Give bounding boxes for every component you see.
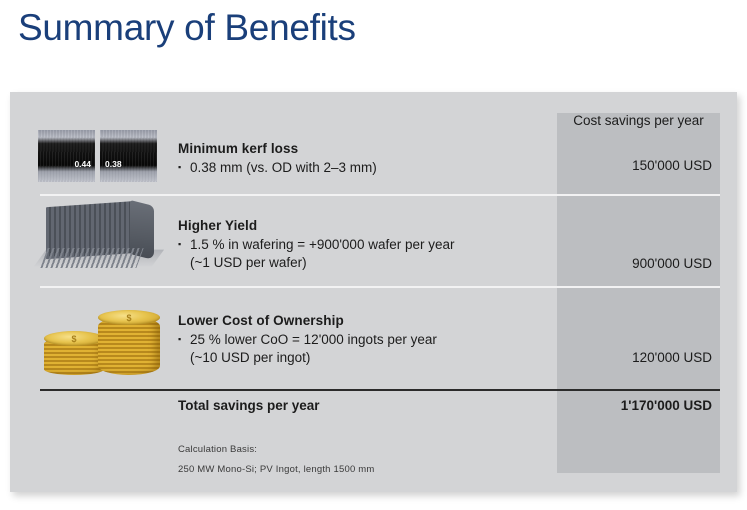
kerf-image-od: 0.44 — [38, 130, 95, 182]
square-bullet-icon: ▪ — [178, 236, 181, 254]
row-text-higher-yield: Higher Yield ▪ 1.5 % in wafering = +900'… — [178, 217, 553, 271]
kerf-image-dw: 0.38 — [100, 130, 157, 182]
gold-coin-stacks-image: $ $ — [38, 307, 164, 377]
square-bullet-icon: ▪ — [178, 159, 181, 177]
row-cost-value: 900'000 USD — [557, 256, 720, 271]
row-cost-value: 150'000 USD — [557, 158, 720, 173]
kerf-label-044: 0.44 — [74, 159, 91, 169]
benefits-table: Cost savings per year 0.44 0.38 Minimum … — [10, 92, 737, 492]
row-thumbnail-kerf: 0.44 0.38 — [38, 130, 178, 182]
cost-column-header: Cost savings per year — [557, 113, 720, 128]
benefits-panel: Cost savings per year 0.44 0.38 Minimum … — [10, 92, 737, 492]
ingot-wire-lines — [40, 248, 143, 268]
coin-stack-small: $ — [44, 338, 104, 375]
row-cost-value: 120'000 USD — [557, 350, 720, 365]
row-title: Minimum kerf loss — [178, 140, 553, 158]
coin-top-face: $ — [98, 310, 160, 325]
row-thumbnail-coins: $ $ — [38, 307, 178, 377]
page-title: Summary of Benefits — [18, 2, 356, 54]
slide-canvas: Summary of Benefits Cost savings per yea… — [0, 0, 747, 510]
row-bullet: ▪ 25 % lower CoO = 12'000 ingots per yea… — [178, 331, 553, 349]
calculation-basis-detail: 250 MW Mono-Si; PV Ingot, length 1500 mm — [178, 462, 375, 478]
row-divider-1 — [40, 194, 720, 196]
total-value: 1'170'000 USD — [557, 398, 720, 413]
row-thumbnail-ingot — [38, 200, 178, 272]
row-bullet: ▪ 1.5 % in wafering = +900'000 wafer per… — [178, 236, 553, 254]
row-bullet: ▪ 0.38 mm (vs. OD with 2–3 mm) — [178, 159, 553, 177]
calculation-basis-label: Calculation Basis: — [178, 442, 257, 458]
dollar-sign-icon: $ — [126, 313, 131, 323]
row-bullet-text: 25 % lower CoO = 12'000 ingots per year — [190, 332, 437, 347]
sliced-ingot-block-image — [38, 200, 164, 272]
kerf-micrograph-pair: 0.44 0.38 — [38, 130, 178, 182]
row-text-minimum-kerf-loss: Minimum kerf loss ▪ 0.38 mm (vs. OD with… — [178, 140, 553, 177]
row-divider-2 — [40, 286, 720, 288]
row-title: Higher Yield — [178, 217, 553, 235]
kerf-label-038: 0.38 — [105, 159, 122, 169]
row-bullet-text: 1.5 % in wafering = +900'000 wafer per y… — [190, 237, 455, 252]
row-bullet-subline: (~1 USD per wafer) — [178, 254, 553, 272]
row-title: Lower Cost of Ownership — [178, 312, 553, 330]
row-text-lower-cost-of-ownership: Lower Cost of Ownership ▪ 25 % lower CoO… — [178, 312, 553, 366]
dollar-sign-icon: $ — [71, 334, 76, 344]
coin-top-face: $ — [44, 331, 104, 346]
row-bullet-text: 0.38 mm (vs. OD with 2–3 mm) — [190, 160, 377, 175]
coin-stack-large: $ — [98, 317, 160, 375]
row-bullet-subline: (~10 USD per ingot) — [178, 349, 553, 367]
square-bullet-icon: ▪ — [178, 331, 181, 349]
total-label: Total savings per year — [178, 398, 320, 413]
total-divider — [40, 389, 720, 391]
